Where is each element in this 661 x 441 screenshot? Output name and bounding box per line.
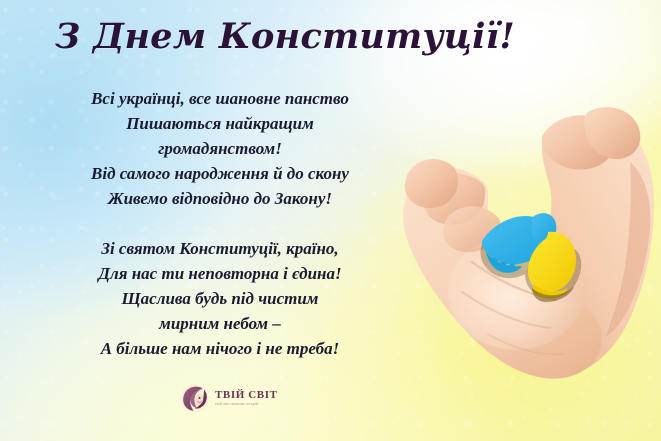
logo-text: ТВІЙ СВІТ твій світ жіночих історій bbox=[215, 390, 278, 406]
poem-line: Всі українці, все шановне панство bbox=[24, 86, 416, 111]
dove-icon bbox=[481, 213, 582, 302]
cupped-hands-icon bbox=[392, 96, 661, 396]
poem-line: Пишаються найкращим bbox=[24, 111, 416, 136]
left-hand bbox=[403, 159, 601, 378]
greeting-card: З Днем Конституції! Всі українці, все ша… bbox=[0, 0, 661, 441]
poem-line: Щаслива будь під чистим bbox=[24, 286, 416, 311]
page-title: З Днем Конституції! bbox=[55, 16, 475, 57]
logo-name: ТВІЙ СВІТ bbox=[215, 390, 278, 401]
poem-line: Живемо відповідно до Закону! bbox=[24, 186, 416, 211]
poem-stanza-2: Зі святом Конституції, країно, Для нас т… bbox=[24, 236, 416, 361]
poem-line: громадянством! bbox=[24, 136, 416, 161]
poem-line: мирним небом – bbox=[24, 311, 416, 336]
right-hand bbox=[503, 107, 654, 378]
brand-logo: ТВІЙ СВІТ твій світ жіночих історій bbox=[180, 383, 278, 413]
poem-stanza-1: Всі українці, все шановне панство Пишают… bbox=[24, 86, 416, 211]
logo-tagline: твій світ жіночих історій bbox=[215, 403, 278, 406]
poem-line: Зі святом Конституції, країно, bbox=[24, 236, 416, 261]
poem-text: Всі українці, все шановне панство Пишают… bbox=[24, 86, 416, 361]
woman-profile-icon bbox=[180, 383, 210, 413]
poem-line: А більше нам нічого і не треба! bbox=[24, 336, 416, 361]
poem-line: Від самого народження й до скону bbox=[24, 161, 416, 186]
poem-line: Для нас ти неповторна і єдина! bbox=[24, 261, 416, 286]
